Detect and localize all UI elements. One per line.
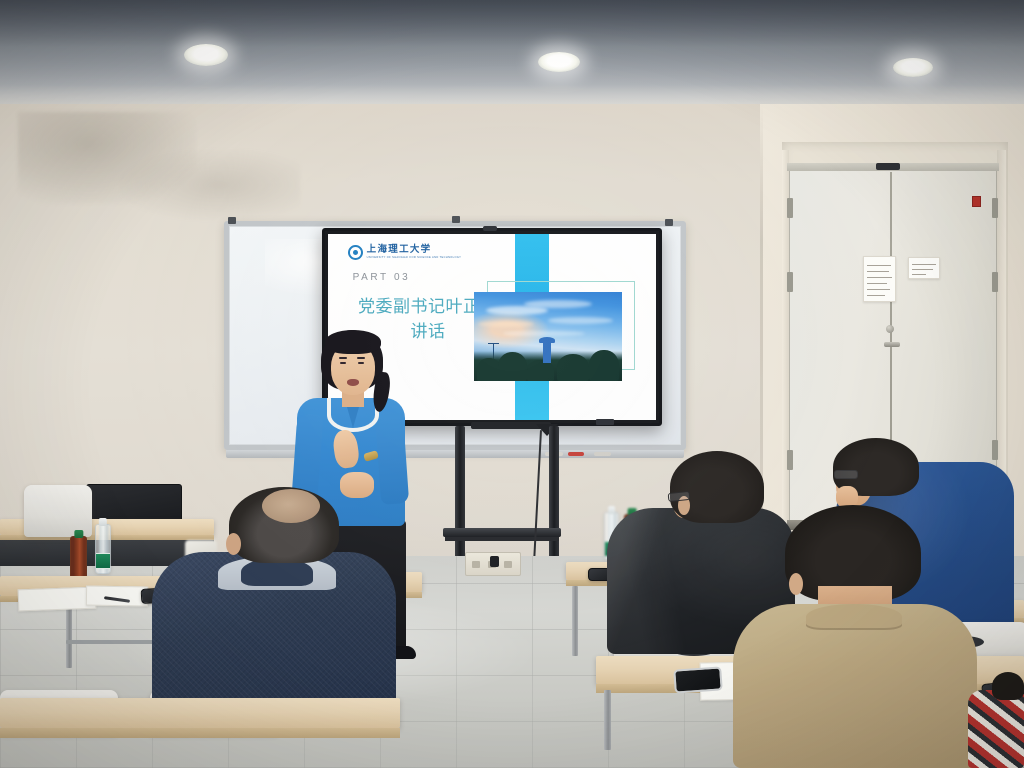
presenter-mouth (347, 379, 359, 386)
classroom-scene: 上海理工大学 UNIVERSITY OF SHANGHAI FOR SCIENC… (0, 0, 1024, 768)
door-hinge-icon (787, 272, 793, 292)
whiteboard-clip-icon (665, 219, 673, 226)
power-plug-icon (490, 556, 499, 567)
wall-water-stain (120, 150, 300, 220)
door-notice-b (908, 257, 940, 279)
attendee-hair (992, 672, 1024, 700)
smartphone[interactable] (673, 666, 723, 693)
document-sheet[interactable] (18, 587, 97, 612)
ceiling-light-icon (184, 44, 228, 66)
door-hinge-icon (787, 198, 793, 218)
presenter-fringe (325, 330, 381, 354)
attendee-scalp (262, 489, 320, 523)
door-hinge-icon (787, 450, 793, 470)
attendee-neckline (806, 604, 902, 630)
logo-text-cn: 上海理工大学 (367, 246, 462, 256)
display-camera-icon (483, 226, 497, 231)
door-closer-icon (876, 163, 900, 170)
whiteboard-clip-icon (228, 217, 236, 224)
whiteboard-clip-icon (452, 216, 460, 223)
display-brand-badge (596, 419, 614, 425)
cart-shelf (443, 528, 561, 537)
desk-edge (0, 728, 400, 738)
ceiling-light-icon (538, 52, 580, 72)
fire-door-tag (972, 196, 981, 207)
slide-section-label: PART 03 (353, 272, 411, 283)
university-logo: 上海理工大学 UNIVERSITY OF SHANGHAI FOR SCIENC… (348, 245, 462, 260)
ceiling-light-icon (893, 58, 933, 77)
desk-row-1 (0, 698, 400, 728)
whiteboard-marker-icon[interactable] (568, 452, 584, 456)
slide-campus-photo (474, 292, 622, 381)
cart-shelf-lip (445, 537, 559, 541)
whiteboard-marker-icon[interactable] (594, 452, 611, 456)
door-handle-icon[interactable] (884, 342, 900, 347)
presenter-brow (357, 357, 365, 359)
attendee-ear (226, 533, 241, 555)
water-bottle[interactable] (95, 524, 111, 574)
desk-leg (66, 602, 72, 668)
attendee-ear (789, 573, 803, 595)
presenter-brow (339, 357, 347, 359)
door-hinge-icon (992, 198, 998, 218)
door-notice-a (863, 256, 896, 302)
chair[interactable] (24, 485, 92, 537)
glasses-icon (834, 470, 858, 479)
grid-ceiling (0, 0, 1024, 118)
desk-leg (572, 586, 578, 656)
logo-emblem-icon (348, 245, 363, 260)
presenter-hand-lower (340, 472, 374, 498)
door-hinge-icon (992, 272, 998, 292)
door-lock-icon[interactable] (886, 325, 894, 333)
document-sheet[interactable] (86, 585, 148, 606)
presenter-eye (358, 362, 364, 364)
presenter-eye (340, 362, 346, 364)
desk-leg (604, 690, 611, 750)
attendee-clothing (968, 690, 1024, 768)
logo-text-en: UNIVERSITY OF SHANGHAI FOR SCIENCE AND T… (367, 257, 462, 260)
door-hinge-icon (992, 440, 998, 460)
